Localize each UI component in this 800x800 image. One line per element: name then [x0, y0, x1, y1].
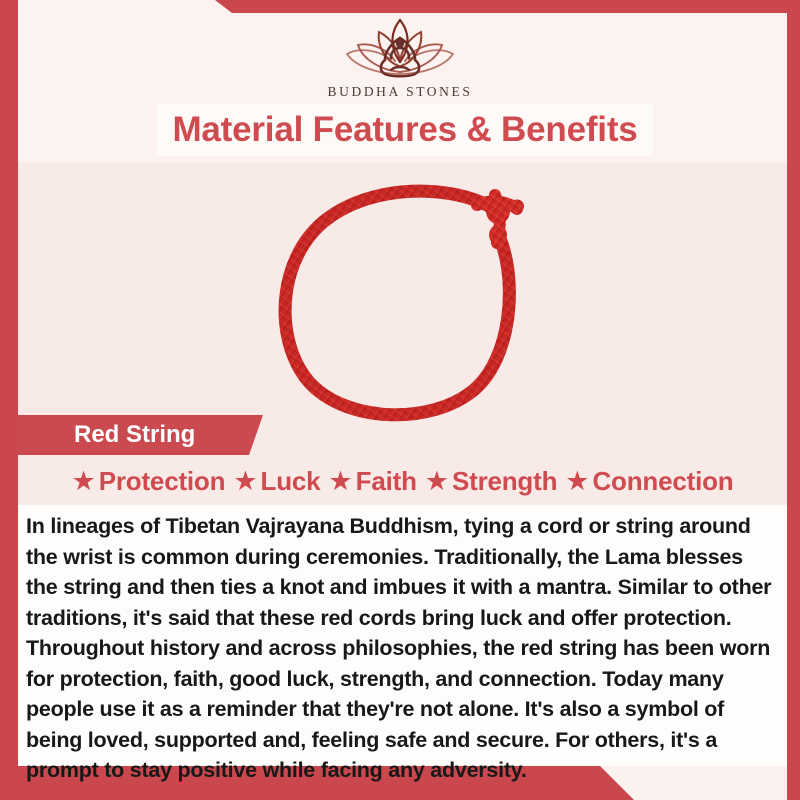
benefit-label: Protection [99, 466, 226, 497]
benefit-item-connection: ★ Connection [565, 466, 733, 497]
description-text: In lineages of Tibetan Vajrayana Buddhis… [26, 511, 778, 786]
page-title: Material Features & Benefits [172, 110, 637, 150]
benefit-item-luck: ★ Luck [233, 466, 320, 497]
ribbon-tail-shape [249, 415, 263, 455]
benefit-item-protection: ★ Protection [72, 466, 226, 497]
benefits-list: ★ Protection ★ Luck ★ Faith ★ Strength ★… [18, 466, 787, 497]
benefit-label: Strength [452, 466, 557, 497]
star-icon: ★ [72, 468, 96, 495]
product-label-ribbon: Red String [18, 415, 249, 455]
benefit-label: Luck [261, 466, 321, 497]
frame-corner-notch-top-left [215, 0, 232, 13]
star-icon: ★ [233, 468, 257, 495]
title-banner: Material Features & Benefits [157, 104, 653, 156]
infographic-page: BUDDHA STONES Material Features & Benefi… [0, 0, 800, 800]
red-braided-string-bracelet [255, 165, 565, 435]
brand-logo: BUDDHA STONES [0, 14, 800, 100]
frame-border-right [787, 0, 800, 800]
star-icon: ★ [565, 468, 589, 495]
benefit-label: Connection [592, 466, 733, 497]
product-label-text: Red String [74, 421, 195, 449]
brand-name: BUDDHA STONES [0, 84, 800, 100]
benefit-item-strength: ★ Strength [425, 466, 558, 497]
star-icon: ★ [425, 468, 449, 495]
lotus-meditation-icon [325, 14, 475, 82]
frame-border-top [232, 0, 800, 13]
benefit-item-faith: ★ Faith [328, 466, 416, 497]
star-icon: ★ [328, 468, 352, 495]
benefit-label: Faith [356, 466, 417, 497]
frame-border-left [0, 0, 18, 800]
